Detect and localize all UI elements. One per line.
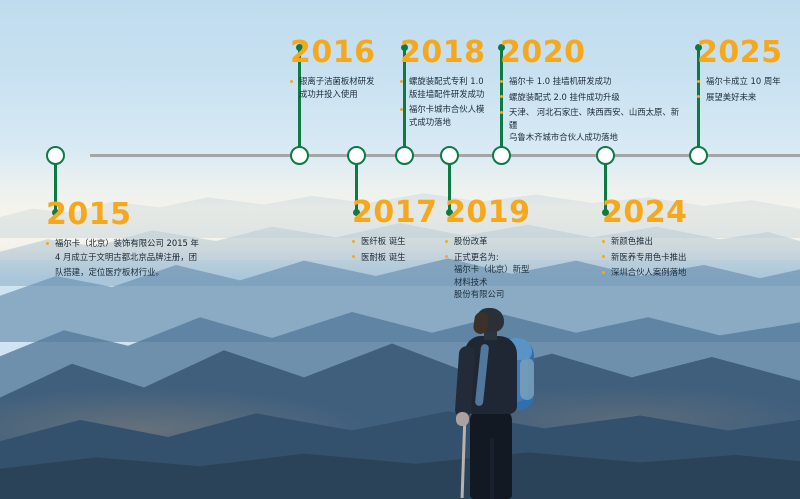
timeline-entry-2015: 2015福尔卡（北京）装饰有限公司 2015 年4 月成立于文明古都北京品牌注册… xyxy=(46,200,206,282)
timeline-entry-2024: 2024新颜色推出新医养专用色卡推出深圳合伙人案例落地 xyxy=(602,198,722,282)
timeline-node-2020[interactable] xyxy=(492,146,511,165)
timeline-bullet-item: 深圳合伙人案例落地 xyxy=(602,266,722,279)
timeline-node-2015[interactable] xyxy=(46,146,65,165)
hiker-trekking-pole xyxy=(461,416,467,498)
timeline-entry-body: 螺旋装配式专利 1.0版挂墙配件研发成功福尔卡城市合伙人模式成功落地 xyxy=(400,75,494,128)
timeline-bullet-wrap-line: 乌鲁木齐城市合伙人成功落地 xyxy=(500,131,680,144)
infographic-canvas: 2015福尔卡（北京）装饰有限公司 2015 年4 月成立于文明古都北京品牌注册… xyxy=(0,0,800,499)
timeline-entry-body: 医纤板 诞生医耐板 诞生 xyxy=(352,235,432,263)
timeline-year-label: 2019 xyxy=(445,198,537,228)
timeline-entry-2018: 2018螺旋装配式专利 1.0版挂墙配件研发成功福尔卡城市合伙人模式成功落地 xyxy=(400,38,494,131)
timeline-bullet-item: 螺旋装配式 2.0 挂件成功升级 xyxy=(500,91,680,104)
timeline-node-2017[interactable] xyxy=(347,146,366,165)
timeline-year-label: 2020 xyxy=(500,38,680,68)
timeline-bullet-item: 福尔卡成立 10 周年 xyxy=(697,75,797,88)
timeline-node-2025[interactable] xyxy=(689,146,708,165)
hiker-leg-split xyxy=(490,438,494,499)
timeline-bullet-wrap-line: 版挂墙配件研发成功 xyxy=(400,88,494,101)
timeline-entry-body: 银离子洁菌板材研发成功并投入使用 xyxy=(290,75,384,100)
timeline-bullet-item: 展望美好未来 xyxy=(697,91,797,104)
timeline-bullet-wrap-line: 式成功落地 xyxy=(400,116,494,129)
timeline-text-line: 福尔卡（北京）装饰有限公司 2015 年 xyxy=(46,237,206,251)
timeline-entry-body: 福尔卡（北京）装饰有限公司 2015 年4 月成立于文明古都北京品牌注册，团队搭… xyxy=(46,237,206,279)
timeline-year-label: 2016 xyxy=(290,38,384,68)
timeline-entry-2019: 2019股份改革正式更名为:福尔卡（北京）新型材料技术股份有限公司 xyxy=(445,198,537,304)
timeline-bullet-item: 医纤板 诞生 xyxy=(352,235,432,248)
timeline-node-2024[interactable] xyxy=(596,146,615,165)
timeline-year-label: 2018 xyxy=(400,38,494,68)
timeline-entry-body: 福尔卡 1.0 挂墙机研发成功螺旋装配式 2.0 挂件成功升级天津、 河北石家庄… xyxy=(500,75,680,144)
timeline-text-line: 4 月成立于文明古都北京品牌注册，团 xyxy=(46,251,206,264)
timeline-year-label: 2017 xyxy=(352,198,432,228)
timeline-bullet-wrap-line: 股份有限公司 xyxy=(445,288,537,301)
timeline-bullet-item: 医耐板 诞生 xyxy=(352,251,432,264)
timeline-entry-2020: 2020福尔卡 1.0 挂墙机研发成功螺旋装配式 2.0 挂件成功升级天津、 河… xyxy=(500,38,680,147)
timeline-bullet-item: 福尔卡 1.0 挂墙机研发成功 xyxy=(500,75,680,88)
timeline-year-label: 2025 xyxy=(697,38,797,68)
timeline-bullet-item: 福尔卡城市合伙人模 xyxy=(400,103,494,116)
timeline-year-label: 2015 xyxy=(46,200,206,230)
timeline-node-2019[interactable] xyxy=(440,146,459,165)
timeline-bullet-wrap-line: 成功并投入使用 xyxy=(290,88,384,101)
timeline-bullet-item: 银离子洁菌板材研发 xyxy=(290,75,384,88)
timeline-bullet-item: 股份改革 xyxy=(445,235,537,248)
timeline-year-label: 2024 xyxy=(602,198,722,228)
timeline-bullet-item: 新医养专用色卡推出 xyxy=(602,251,722,264)
timeline-node-2018[interactable] xyxy=(395,146,414,165)
timeline-bullet-item: 螺旋装配式专利 1.0 xyxy=(400,75,494,88)
timeline-bullet-item: 新颜色推出 xyxy=(602,235,722,248)
timeline-node-2016[interactable] xyxy=(290,146,309,165)
hiker-backpack-side-pocket xyxy=(520,358,534,400)
timeline-entry-body: 福尔卡成立 10 周年展望美好未来 xyxy=(697,75,797,103)
timeline-bullet-item: 正式更名为: xyxy=(445,251,537,264)
timeline-entry-2016: 2016银离子洁菌板材研发成功并投入使用 xyxy=(290,38,384,103)
timeline-text-line: 队搭建，定位医疗板材行业。 xyxy=(46,266,206,279)
hiker-figure xyxy=(448,308,568,499)
hiker-hand xyxy=(456,412,469,426)
timeline-bullet-wrap-line: 福尔卡（北京）新型材料技术 xyxy=(445,263,537,288)
timeline-entry-2017: 2017医纤板 诞生医耐板 诞生 xyxy=(352,198,432,266)
timeline-entry-body: 股份改革正式更名为:福尔卡（北京）新型材料技术股份有限公司 xyxy=(445,235,537,301)
timeline-entry-body: 新颜色推出新医养专用色卡推出深圳合伙人案例落地 xyxy=(602,235,722,279)
timeline-entry-2025: 2025福尔卡成立 10 周年展望美好未来 xyxy=(697,38,797,106)
timeline-bullet-item: 天津、 河北石家庄、陕西西安、山西太原、新疆 xyxy=(500,106,680,131)
